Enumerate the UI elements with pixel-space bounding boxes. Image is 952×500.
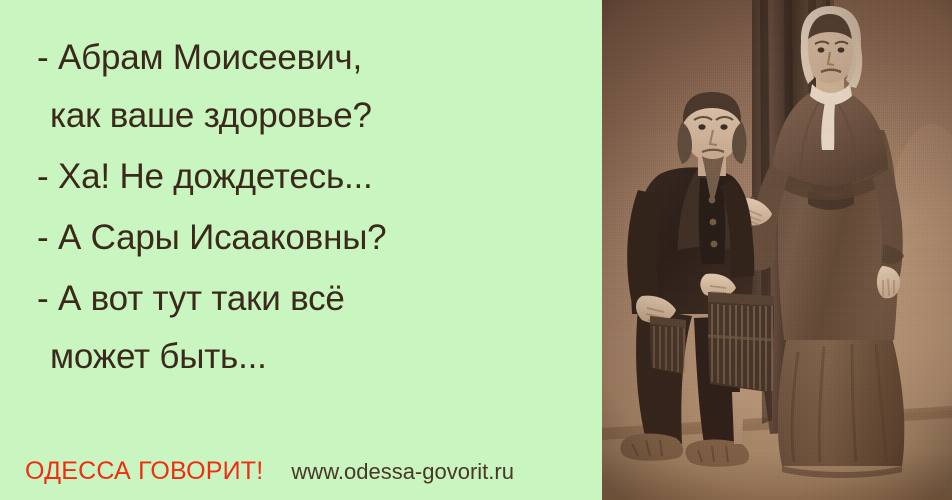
joke-line: может быть... <box>0 328 602 386</box>
portrait-illustration <box>602 0 952 500</box>
joke-line: - Абрам Моисеевич, <box>0 29 602 87</box>
joke-text-block: - Абрам Моисеевич, как ваше здоровье? - … <box>0 29 602 386</box>
joke-card: - Абрам Моисеевич, как ваше здоровье? - … <box>0 0 952 500</box>
vintage-portrait-photo <box>602 0 952 500</box>
joke-line: как ваше здоровье? <box>0 87 602 145</box>
text-panel: - Абрам Моисеевич, как ваше здоровье? - … <box>0 0 602 500</box>
joke-line: - Ха! Не дождетесь... <box>0 148 602 206</box>
joke-line: - А вот тут таки всё <box>0 270 602 328</box>
brand-label: ОДЕССА ГОВОРИТ! <box>25 457 263 486</box>
joke-line: - А Сары Исааковны? <box>0 209 602 267</box>
website-url[interactable]: www.odessa-govorit.ru <box>291 459 514 485</box>
footer: ОДЕССА ГОВОРИТ! www.odessa-govorit.ru <box>0 457 602 486</box>
